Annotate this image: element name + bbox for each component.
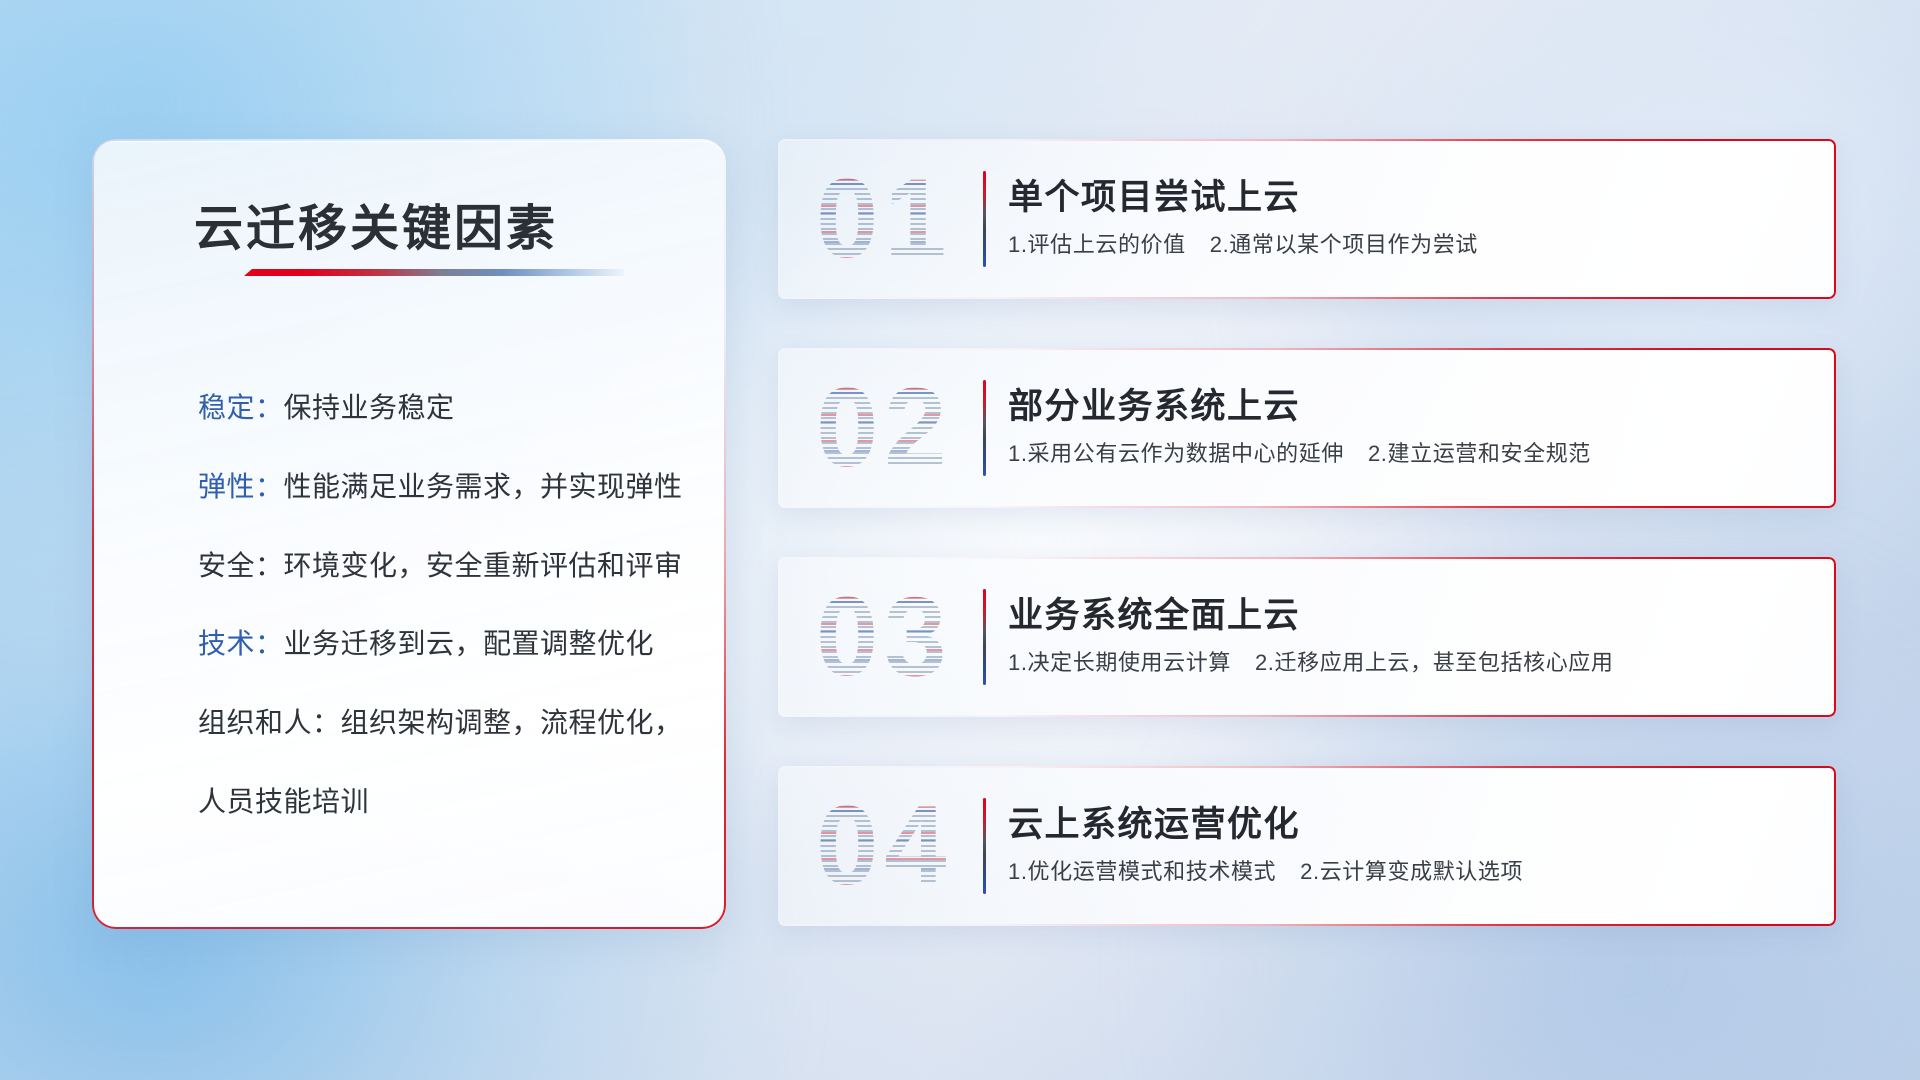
step-divider	[983, 589, 986, 685]
key-factors-card: 云迁移关键因素 稳定：保持业务稳定 弹性：性能满足业务需求，并实现弹性 安全：环…	[92, 139, 726, 929]
step-card-02[interactable]: 02 02 部分业务系统上云 1.采用公有云作为数据中心的延伸2.建立运营和安全…	[778, 348, 1836, 508]
key-factors-list: 稳定：保持业务稳定 弹性：性能满足业务需求，并实现弹性 安全：环境变化，安全重新…	[198, 393, 684, 818]
step-point-2: 2.通常以某个项目作为尝试	[1210, 232, 1478, 257]
list-item: 人员技能培训	[198, 787, 684, 818]
step-number: 02	[816, 362, 953, 494]
factor-label: 弹性：	[198, 471, 284, 502]
step-number: 01	[816, 153, 953, 285]
step-point-2: 2.建立运营和安全规范	[1368, 441, 1591, 466]
factor-text: 人员技能培训	[198, 786, 369, 817]
step-title: 单个项目尝试上云	[1008, 169, 1300, 220]
list-item: 组织和人：组织架构调整，流程优化，	[198, 708, 684, 739]
factor-label: 安全：	[198, 550, 284, 581]
step-card-03[interactable]: 03 03 业务系统全面上云 1.决定长期使用云计算2.迁移应用上云，甚至包括核…	[778, 557, 1836, 717]
slide-stage: 云迁移关键因素 稳定：保持业务稳定 弹性：性能满足业务需求，并实现弹性 安全：环…	[0, 0, 1920, 1080]
list-item: 稳定：保持业务稳定	[198, 393, 684, 424]
factor-text: 组织架构调整，流程优化，	[341, 707, 683, 738]
factor-text: 业务迁移到云，配置调整优化	[284, 628, 655, 659]
factor-label: 组织和人：	[198, 707, 341, 738]
step-subtitle: 1.决定长期使用云计算2.迁移应用上云，甚至包括核心应用	[1008, 645, 1614, 677]
step-point-1: 1.评估上云的价值	[1008, 232, 1186, 257]
step-subtitle: 1.优化运营模式和技术模式2.云计算变成默认选项	[1008, 854, 1523, 886]
step-point-1: 1.决定长期使用云计算	[1008, 650, 1231, 675]
page-title: 云迁移关键因素	[194, 189, 558, 260]
step-divider	[983, 380, 986, 476]
step-title: 云上系统运营优化	[1008, 796, 1300, 847]
list-item: 弹性：性能满足业务需求，并实现弹性	[198, 472, 684, 503]
step-subtitle: 1.评估上云的价值2.通常以某个项目作为尝试	[1008, 227, 1478, 259]
factor-label: 技术：	[198, 628, 284, 659]
step-number: 04	[816, 780, 953, 912]
step-title: 部分业务系统上云	[1008, 378, 1300, 429]
step-subtitle: 1.采用公有云作为数据中心的延伸2.建立运营和安全规范	[1008, 436, 1591, 468]
list-item: 安全：环境变化，安全重新评估和评审	[198, 551, 684, 582]
step-card-04[interactable]: 04 04 云上系统运营优化 1.优化运营模式和技术模式2.云计算变成默认选项	[778, 766, 1836, 926]
step-title: 业务系统全面上云	[1008, 587, 1300, 638]
step-point-2: 2.云计算变成默认选项	[1300, 859, 1523, 884]
step-card-01[interactable]: 01 01 单个项目尝试上云 1.评估上云的价值2.通常以某个项目作为尝试	[778, 139, 1836, 299]
factor-text: 环境变化，安全重新评估和评审	[284, 550, 683, 581]
step-divider	[983, 171, 986, 267]
step-divider	[983, 798, 986, 894]
step-number: 03	[816, 571, 953, 703]
factor-text: 保持业务稳定	[284, 392, 455, 423]
step-point-1: 1.优化运营模式和技术模式	[1008, 859, 1276, 884]
title-underline-rule	[244, 269, 624, 276]
factor-text: 性能满足业务需求，并实现弹性	[284, 471, 683, 502]
factor-label: 稳定：	[198, 392, 284, 423]
step-point-1: 1.采用公有云作为数据中心的延伸	[1008, 441, 1344, 466]
list-item: 技术：业务迁移到云，配置调整优化	[198, 629, 684, 660]
step-point-2: 2.迁移应用上云，甚至包括核心应用	[1255, 650, 1614, 675]
